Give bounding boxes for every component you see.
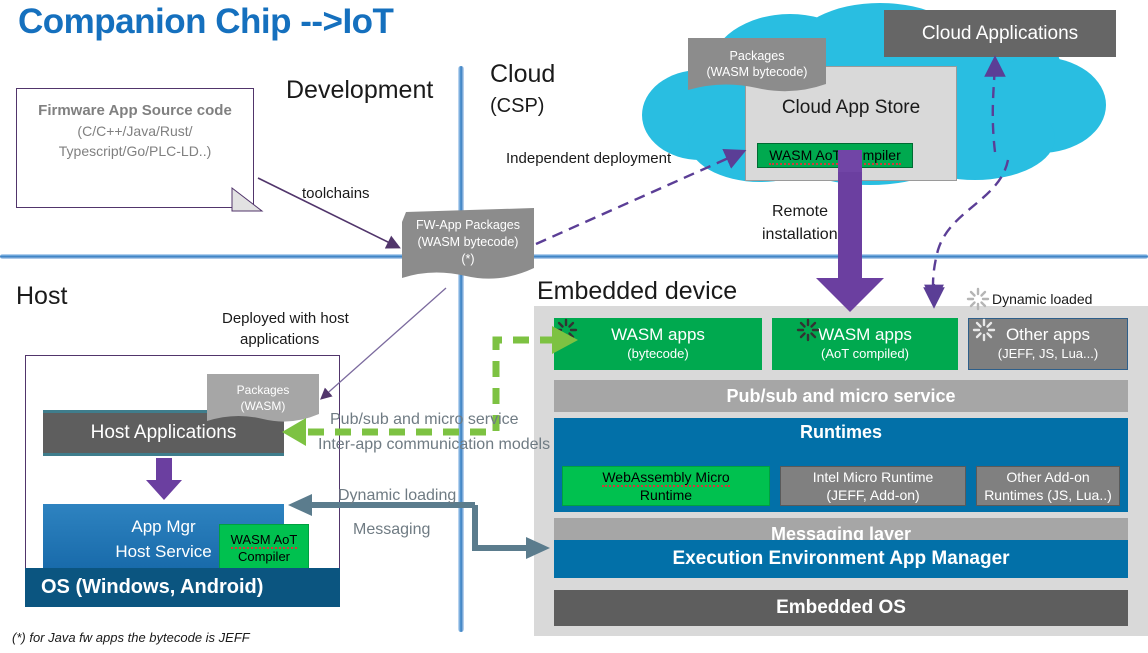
runtime-card-wasm-micro[interactable]: WebAssembly Micro Runtime [562, 466, 770, 506]
callout-line3: (*) [402, 251, 534, 268]
label-deployed-with-host-2: applications [240, 331, 319, 348]
app-card-wasm-aot[interactable]: WASM apps (AoT compiled) [772, 318, 958, 370]
callout-line2: (WASM bytecode) [688, 64, 826, 80]
embedded-bar-os: Embedded OS [554, 590, 1128, 626]
host-os-bar: OS (Windows, Android) [25, 568, 340, 607]
runtime-card-other-addon[interactable]: Other Add-on Runtimes (JS, Lua..) [976, 466, 1120, 506]
callout-packages-host: Packages (WASM) [207, 374, 319, 426]
embedded-bar-label: Embedded OS [776, 597, 906, 619]
diagram-canvas: Companion Chip -->IoT Development Cloud … [0, 0, 1148, 653]
label-toolchains: toolchains [302, 185, 370, 202]
embedded-bar-label: Pub/sub and micro service [726, 386, 955, 407]
aot-line2: Compiler [238, 548, 290, 565]
label-pubsub-micro-service: Pub/sub and micro service [330, 411, 519, 429]
runtime-card-line2: (JEFF, Add-on) [826, 486, 919, 504]
callout-fw-app-packages: FW-App Packages (WASM bytecode) (*) [402, 208, 534, 284]
app-card-sub: (AoT compiled) [821, 344, 909, 363]
app-card-sub: (JEFF, JS, Lua...) [998, 344, 1098, 363]
footnote-text: (*) for Java fw apps the bytecode is JEF… [12, 630, 250, 645]
runtime-card-line1: Intel Micro Runtime [813, 468, 934, 486]
arrow-messaging [475, 505, 528, 548]
host-wasm-aot-compiler-box[interactable]: WASM AoT Compiler [219, 524, 309, 572]
runtimes-title: Runtimes [554, 422, 1128, 443]
firmware-source-box: Firmware App Source code (C/C++/Java/Rus… [16, 88, 254, 208]
horizontal-divider [0, 254, 1148, 259]
runtime-card-line2: Runtime [640, 486, 692, 504]
embedded-runtimes-block: Runtimes WebAssembly Micro Runtime Intel… [554, 418, 1128, 512]
app-card-title: Other apps [1006, 325, 1090, 344]
label-remote-installation-1: Remote [772, 203, 828, 221]
app-card-other-apps[interactable]: Other apps (JEFF, JS, Lua...) [968, 318, 1128, 370]
label-independent-deployment: Independent deployment [506, 150, 671, 167]
label-messaging: Messaging [353, 521, 430, 539]
app-card-sub: (bytecode) [627, 344, 688, 363]
label-dynamic-loaded-legend: Dynamic loaded [992, 291, 1092, 307]
aot-line1: WASM AoT [231, 532, 298, 549]
cloud-app-store-title: Cloud App Store [746, 97, 956, 119]
runtime-card-line1: WebAssembly Micro [602, 469, 729, 487]
embedded-bar-label: Execution Environment App Manager [672, 548, 1009, 570]
section-label-embedded-device: Embedded device [537, 277, 737, 306]
label-inter-app-communication: Inter-app communication models [318, 436, 550, 454]
host-os-label: OS (Windows, Android) [41, 576, 263, 599]
section-label-development: Development [286, 76, 433, 105]
arrow-appstore-to-cloudapps [993, 60, 995, 152]
callout-line1: FW-App Packages [402, 217, 534, 234]
page-title: Companion Chip -->IoT [18, 2, 393, 42]
embedded-bar-pubsub: Pub/sub and micro service [554, 380, 1128, 412]
label-deployed-with-host-1: Deployed with host [222, 310, 349, 327]
label-dynamic-loading: Dynamic loading [338, 487, 456, 505]
embedded-bar-app-manager: Execution Environment App Manager [554, 540, 1128, 578]
firmware-line3: Typescript/Go/PLC-LD..) [17, 141, 253, 161]
callout-line2: (WASM) [207, 398, 319, 414]
embedded-device-panel: WASM apps (bytecode) WASM apps (AoT comp… [534, 306, 1148, 636]
cloud-aot-label: WASM AoT Compiler [769, 147, 900, 165]
section-label-cloud-sub: (CSP) [490, 95, 544, 118]
callout-line1: Packages [207, 382, 319, 398]
cloud-wasm-aot-compiler-box[interactable]: WASM AoT Compiler [757, 143, 913, 168]
arrow-cloudapps-to-device [933, 160, 1008, 304]
app-card-title: WASM apps [818, 325, 912, 344]
callout-packages-cloud: Packages (WASM bytecode) [688, 38, 826, 96]
vertical-divider [458, 66, 464, 632]
runtime-card-line2: Runtimes (JS, Lua..) [984, 486, 1112, 504]
firmware-heading: Firmware App Source code [17, 101, 253, 121]
app-card-title: WASM apps [611, 325, 705, 344]
callout-line2: (WASM bytecode) [402, 234, 534, 251]
cloud-applications-label: Cloud Applications [922, 23, 1078, 45]
label-remote-installation-2: installation [762, 226, 838, 244]
runtime-card-intel-micro[interactable]: Intel Micro Runtime (JEFF, Add-on) [780, 466, 966, 506]
app-card-wasm-bytecode[interactable]: WASM apps (bytecode) [554, 318, 762, 370]
section-label-host: Host [16, 282, 67, 311]
firmware-line2: (C/C++/Java/Rust/ [17, 121, 253, 141]
cloud-applications-box[interactable]: Cloud Applications [884, 10, 1116, 57]
callout-line1: Packages [688, 48, 826, 64]
runtime-card-line1: Other Add-on [1006, 468, 1089, 486]
arrow-deployed-with-host [322, 288, 446, 398]
section-label-cloud: Cloud [490, 60, 555, 89]
